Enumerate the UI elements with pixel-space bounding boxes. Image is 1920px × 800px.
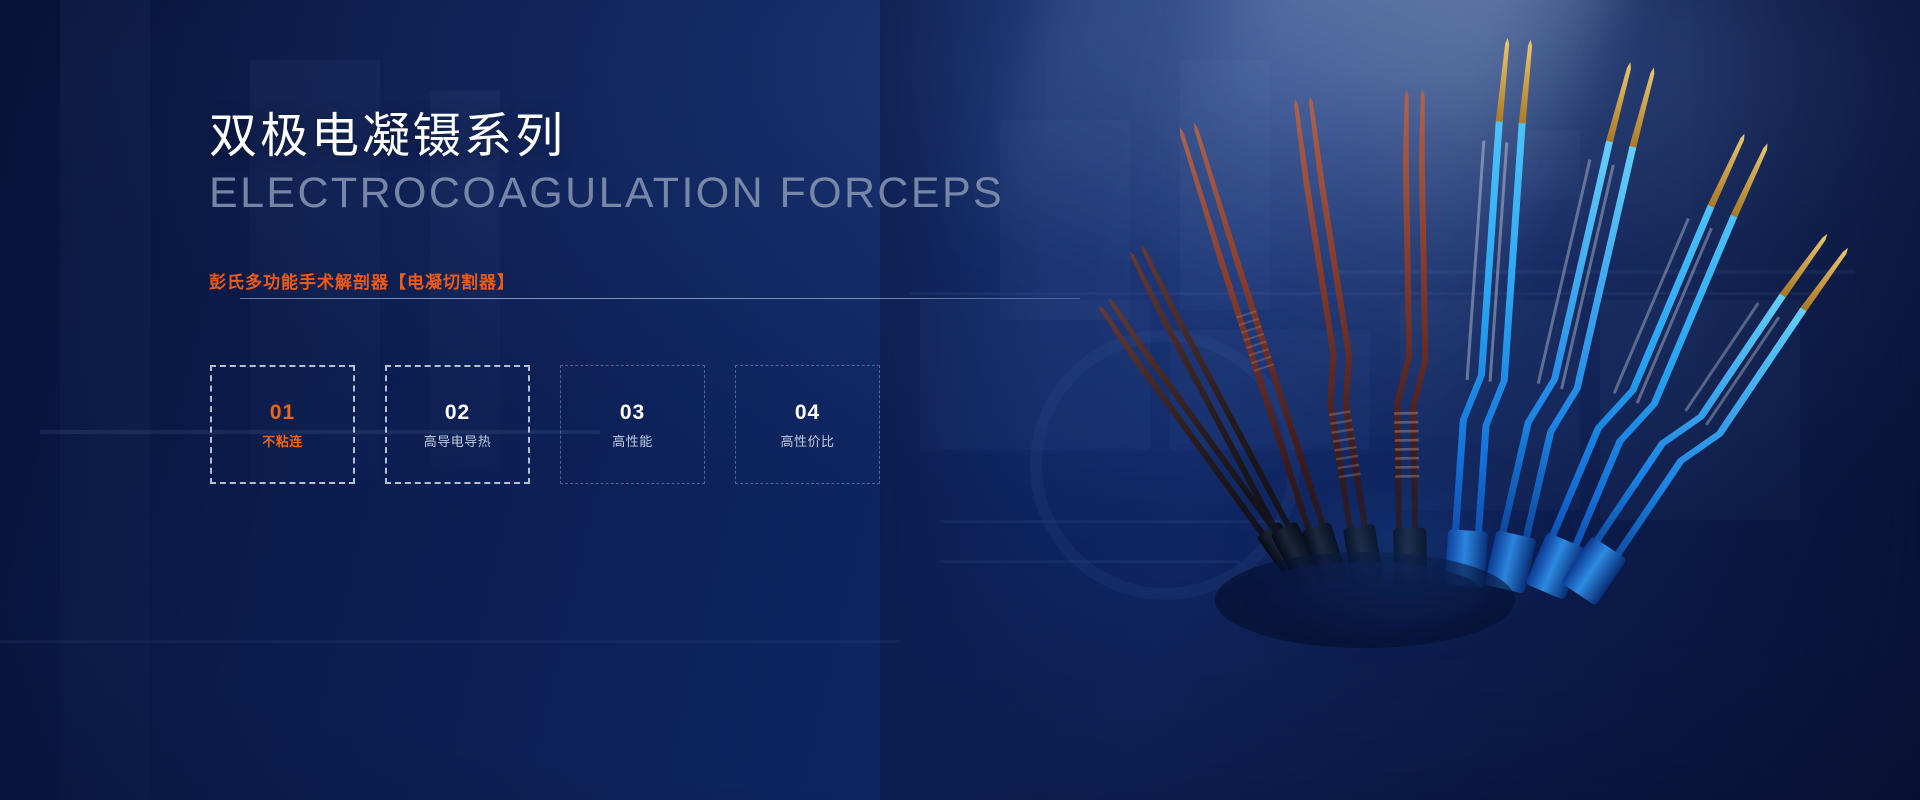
feature-list: 01 不粘连 02 高导电导热 03 高性能 04 高性价比 [210, 365, 880, 484]
page-title-cn: 双极电凝镊系列 [209, 113, 566, 161]
feature-item-03[interactable]: 03 高性能 [560, 365, 705, 484]
feature-label: 高性价比 [780, 435, 834, 448]
forceps-base-glow [1190, 420, 1610, 680]
feature-number: 02 [445, 402, 470, 423]
feature-number: 03 [620, 402, 645, 423]
feature-label: 不粘连 [262, 435, 303, 448]
page-title-en: ELECTROCOAGULATION FORCEPS [209, 172, 1004, 215]
product-subtitle: 彭氏多功能手术解剖器【电凝切割器】 [209, 274, 515, 291]
banner-content: 双极电凝镊系列 ELECTROCOAGULATION FORCEPS 彭氏多功能… [0, 0, 1100, 800]
feature-item-02[interactable]: 02 高导电导热 [385, 365, 530, 484]
feature-number: 01 [270, 402, 295, 423]
feature-number: 04 [795, 402, 820, 423]
title-divider [240, 298, 1080, 299]
product-banner: 双极电凝镊系列 ELECTROCOAGULATION FORCEPS 彭氏多功能… [0, 0, 1920, 800]
feature-label: 高导电导热 [424, 435, 492, 448]
feature-label: 高性能 [612, 435, 653, 448]
feature-item-01[interactable]: 01 不粘连 [210, 365, 355, 484]
feature-item-04[interactable]: 04 高性价比 [735, 365, 880, 484]
